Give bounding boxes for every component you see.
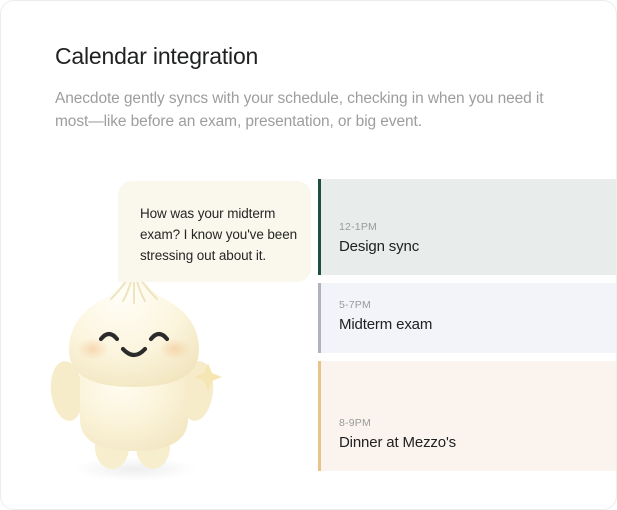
calendar-integration-panel: Calendar integration Anecdote gently syn… bbox=[0, 0, 617, 510]
event-title: Dinner at Mezzo's bbox=[339, 433, 456, 453]
mascot-blush-left bbox=[77, 338, 109, 360]
dumpling-mascot bbox=[39, 251, 229, 481]
calendar-event-card[interactable]: 8-9PM Dinner at Mezzo's bbox=[318, 361, 617, 471]
calendar-event-list: 12-1PM Design sync 5-7PM Midterm exam 8-… bbox=[318, 179, 617, 471]
event-body: 8-9PM Dinner at Mezzo's bbox=[321, 416, 456, 471]
event-body: 5-7PM Midterm exam bbox=[321, 298, 432, 353]
calendar-event-card[interactable]: 12-1PM Design sync bbox=[318, 179, 617, 275]
page-title: Calendar integration bbox=[55, 41, 575, 71]
speech-bubble-text: How was your midterm exam? I know you've… bbox=[140, 203, 300, 266]
event-title: Midterm exam bbox=[339, 315, 432, 335]
calendar-event-card[interactable]: 5-7PM Midterm exam bbox=[318, 283, 617, 353]
page-subtitle: Anecdote gently syncs with your schedule… bbox=[55, 87, 560, 133]
event-time: 5-7PM bbox=[339, 298, 432, 312]
mascot-blush-right bbox=[159, 338, 191, 360]
mascot-shadow bbox=[73, 457, 197, 481]
header: Calendar integration Anecdote gently syn… bbox=[55, 41, 575, 133]
event-time: 12-1PM bbox=[339, 220, 419, 234]
speech-bubble: How was your midterm exam? I know you've… bbox=[118, 181, 311, 282]
event-title: Design sync bbox=[339, 237, 419, 257]
event-body: 12-1PM Design sync bbox=[321, 220, 419, 275]
event-time: 8-9PM bbox=[339, 416, 456, 430]
illustration-stage: How was your midterm exam? I know you've… bbox=[1, 171, 617, 510]
